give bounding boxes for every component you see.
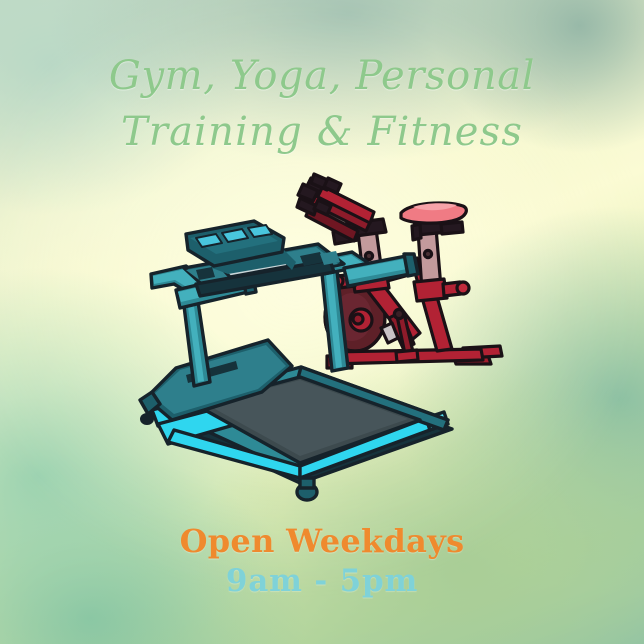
open-hours-label: 9am - 5pm: [0, 560, 644, 602]
page-title: Gym, Yoga, Personal Training & Fitness: [0, 48, 644, 160]
fitness-poster: Gym, Yoga, Personal Training & Fitness: [0, 0, 644, 644]
open-days-label: Open Weekdays: [0, 522, 644, 560]
headline-line-1: Gym, Yoga, Personal: [0, 48, 644, 104]
headline-line-2: Training & Fitness: [0, 104, 644, 160]
footer-text-block: Open Weekdays 9am - 5pm: [0, 522, 644, 602]
